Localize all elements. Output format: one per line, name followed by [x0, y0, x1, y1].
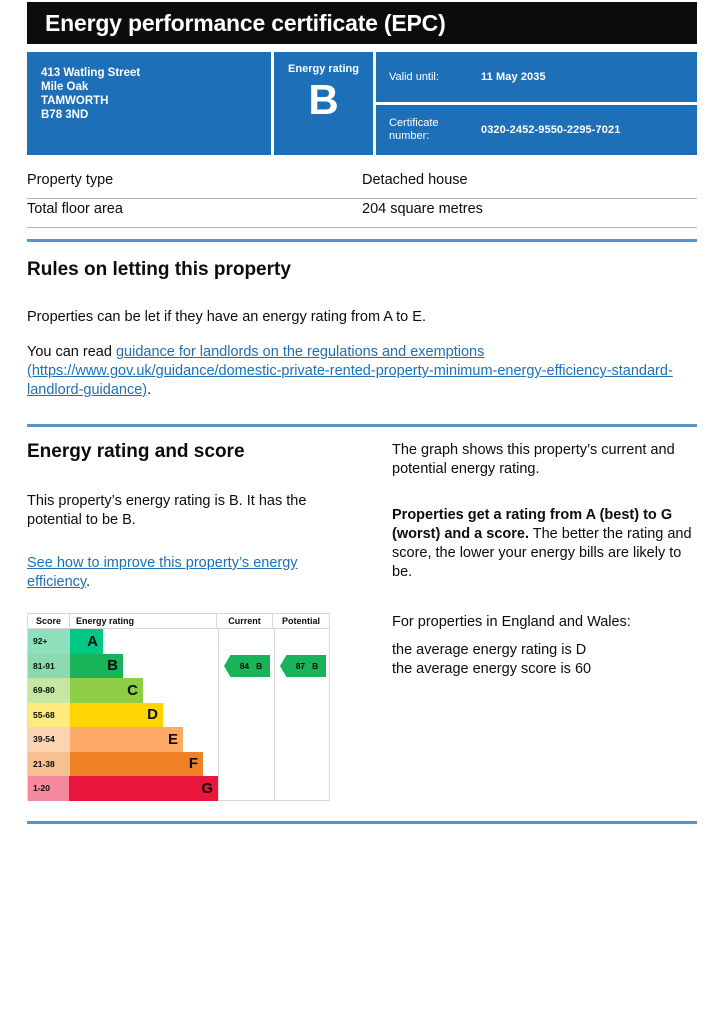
epc-graph-header: Score Energy rating Current Potential: [28, 614, 329, 629]
band-score-range: 55-68: [28, 703, 70, 728]
guidance-lead-in: You can read: [27, 344, 116, 360]
band-score-range: 69-80: [28, 678, 70, 703]
column-header-current: Current: [217, 614, 273, 628]
certificate-meta: Valid until: 11 May 2035 Certificatenumb…: [376, 52, 697, 155]
epc-band-row: 21-38F: [28, 752, 218, 777]
floor-area-label: Total floor area: [27, 199, 362, 219]
column-divider-current: [274, 629, 275, 801]
graph-intro-paragraph: The graph shows this property’s current …: [392, 441, 697, 479]
rules-paragraph: Properties can be let if they have an en…: [27, 308, 697, 327]
epc-band-rows: 92+A81-91B69-80C55-68D39-54E21-38F1-20G: [28, 629, 218, 801]
rules-guidance-paragraph: You can read guidance for landlords on t…: [27, 343, 699, 400]
current-rating-arrow: 84B: [224, 655, 270, 677]
property-type-value: Detached house: [362, 170, 468, 190]
column-divider-band: [218, 629, 219, 801]
address-line-3: TAMWORTH: [41, 94, 271, 108]
score-section-heading-wrap: Energy rating and score: [27, 440, 245, 464]
epc-band-row: 1-20G: [28, 776, 218, 801]
potential-score-value: 87: [296, 661, 305, 671]
valid-until-value: 11 May 2035: [481, 71, 546, 84]
band-score-range: 1-20: [28, 776, 69, 801]
energy-rating-letter: B: [274, 78, 373, 122]
band-bar-a: A: [70, 629, 103, 654]
band-bar-g: G: [69, 776, 218, 801]
band-bar-b: B: [70, 654, 123, 679]
energy-rating-badge: Energy rating B: [274, 52, 373, 155]
section-divider: [27, 239, 697, 242]
section-divider: [27, 821, 697, 824]
improve-efficiency-paragraph: See how to improve this property’s energ…: [27, 554, 347, 592]
epc-band-row: 81-91B: [28, 654, 218, 679]
epc-band-row: 69-80C: [28, 678, 218, 703]
band-score-range: 81-91: [28, 654, 70, 679]
epc-graph-body: 92+A81-91B69-80C55-68D39-54E21-38F1-20G …: [28, 629, 329, 801]
epc-band-row: 55-68D: [28, 703, 218, 728]
certificate-summary: 413 Watling Street Mile Oak TAMWORTH B78…: [27, 52, 697, 155]
property-address: 413 Watling Street Mile Oak TAMWORTH B78…: [27, 52, 271, 155]
page-title-bar: Energy performance certificate (EPC): [27, 2, 697, 44]
rating-explainer-paragraph: Properties get a rating from A (best) to…: [392, 506, 697, 582]
current-score-value: 84: [240, 661, 249, 671]
potential-rating-arrow: 87B: [280, 655, 326, 677]
column-header-potential: Potential: [273, 614, 329, 628]
band-bar-d: D: [70, 703, 163, 728]
landlord-guidance-link[interactable]: guidance for landlords on the regulation…: [116, 344, 484, 360]
average-score-line: the average energy score is 60: [392, 661, 591, 677]
property-details-table: Property type Detached house Total floor…: [27, 170, 697, 228]
band-score-range: 21-38: [28, 752, 70, 777]
floor-area-value: 204 square metres: [362, 199, 483, 219]
score-left-paragraph: This property’s energy rating is B. It h…: [27, 492, 347, 530]
band-score-range: 39-54: [28, 727, 70, 752]
current-rating-letter: B: [256, 661, 262, 671]
property-type-label: Property type: [27, 170, 362, 190]
rules-heading: Rules on letting this property: [27, 258, 697, 282]
address-line-1: 413 Watling Street: [41, 66, 271, 80]
region-label: For properties in England and Wales:: [392, 613, 697, 632]
page-title: Energy performance certificate (EPC): [45, 10, 446, 37]
certificate-number-row: Certificatenumber: 0320-2452-9550-2295-7…: [376, 105, 697, 155]
section-divider: [27, 424, 697, 427]
valid-until-label: Valid until:: [389, 71, 481, 84]
band-bar-c: C: [70, 678, 143, 703]
address-line-2: Mile Oak: [41, 80, 271, 94]
table-row: Property type Detached house: [27, 170, 697, 199]
epc-band-row: 92+A: [28, 629, 218, 654]
epc-page: Energy performance certificate (EPC) 413…: [0, 0, 724, 1024]
epc-rating-graph: Score Energy rating Current Potential 92…: [27, 613, 330, 801]
column-header-energy-rating: Energy rating: [70, 614, 217, 628]
landlord-guidance-url[interactable]: (https://www.gov.uk/guidance/domestic-pr…: [27, 363, 673, 398]
guidance-trailing: .: [147, 382, 151, 398]
energy-rating-label: Energy rating: [274, 63, 373, 76]
score-heading: Energy rating and score: [27, 440, 245, 464]
certificate-number-label: Certificatenumber:: [389, 117, 481, 143]
potential-rating-letter: B: [312, 661, 318, 671]
average-rating-line: the average energy rating is D: [392, 642, 586, 658]
improve-trailing: .: [86, 574, 90, 590]
address-postcode: B78 3ND: [41, 108, 271, 122]
certificate-number-value: 0320-2452-9550-2295-7021: [481, 124, 620, 137]
rules-section-heading-wrap: Rules on letting this property: [27, 258, 697, 282]
improve-efficiency-link[interactable]: See how to improve this property’s energ…: [27, 555, 298, 590]
column-header-score: Score: [28, 614, 70, 628]
band-bar-f: F: [70, 752, 203, 777]
regional-averages: the average energy rating is Dthe averag…: [392, 641, 697, 679]
band-score-range: 92+: [28, 629, 70, 654]
valid-until-row: Valid until: 11 May 2035: [376, 52, 697, 102]
band-bar-e: E: [70, 727, 183, 752]
table-row: Total floor area 204 square metres: [27, 199, 697, 228]
epc-band-row: 39-54E: [28, 727, 218, 752]
